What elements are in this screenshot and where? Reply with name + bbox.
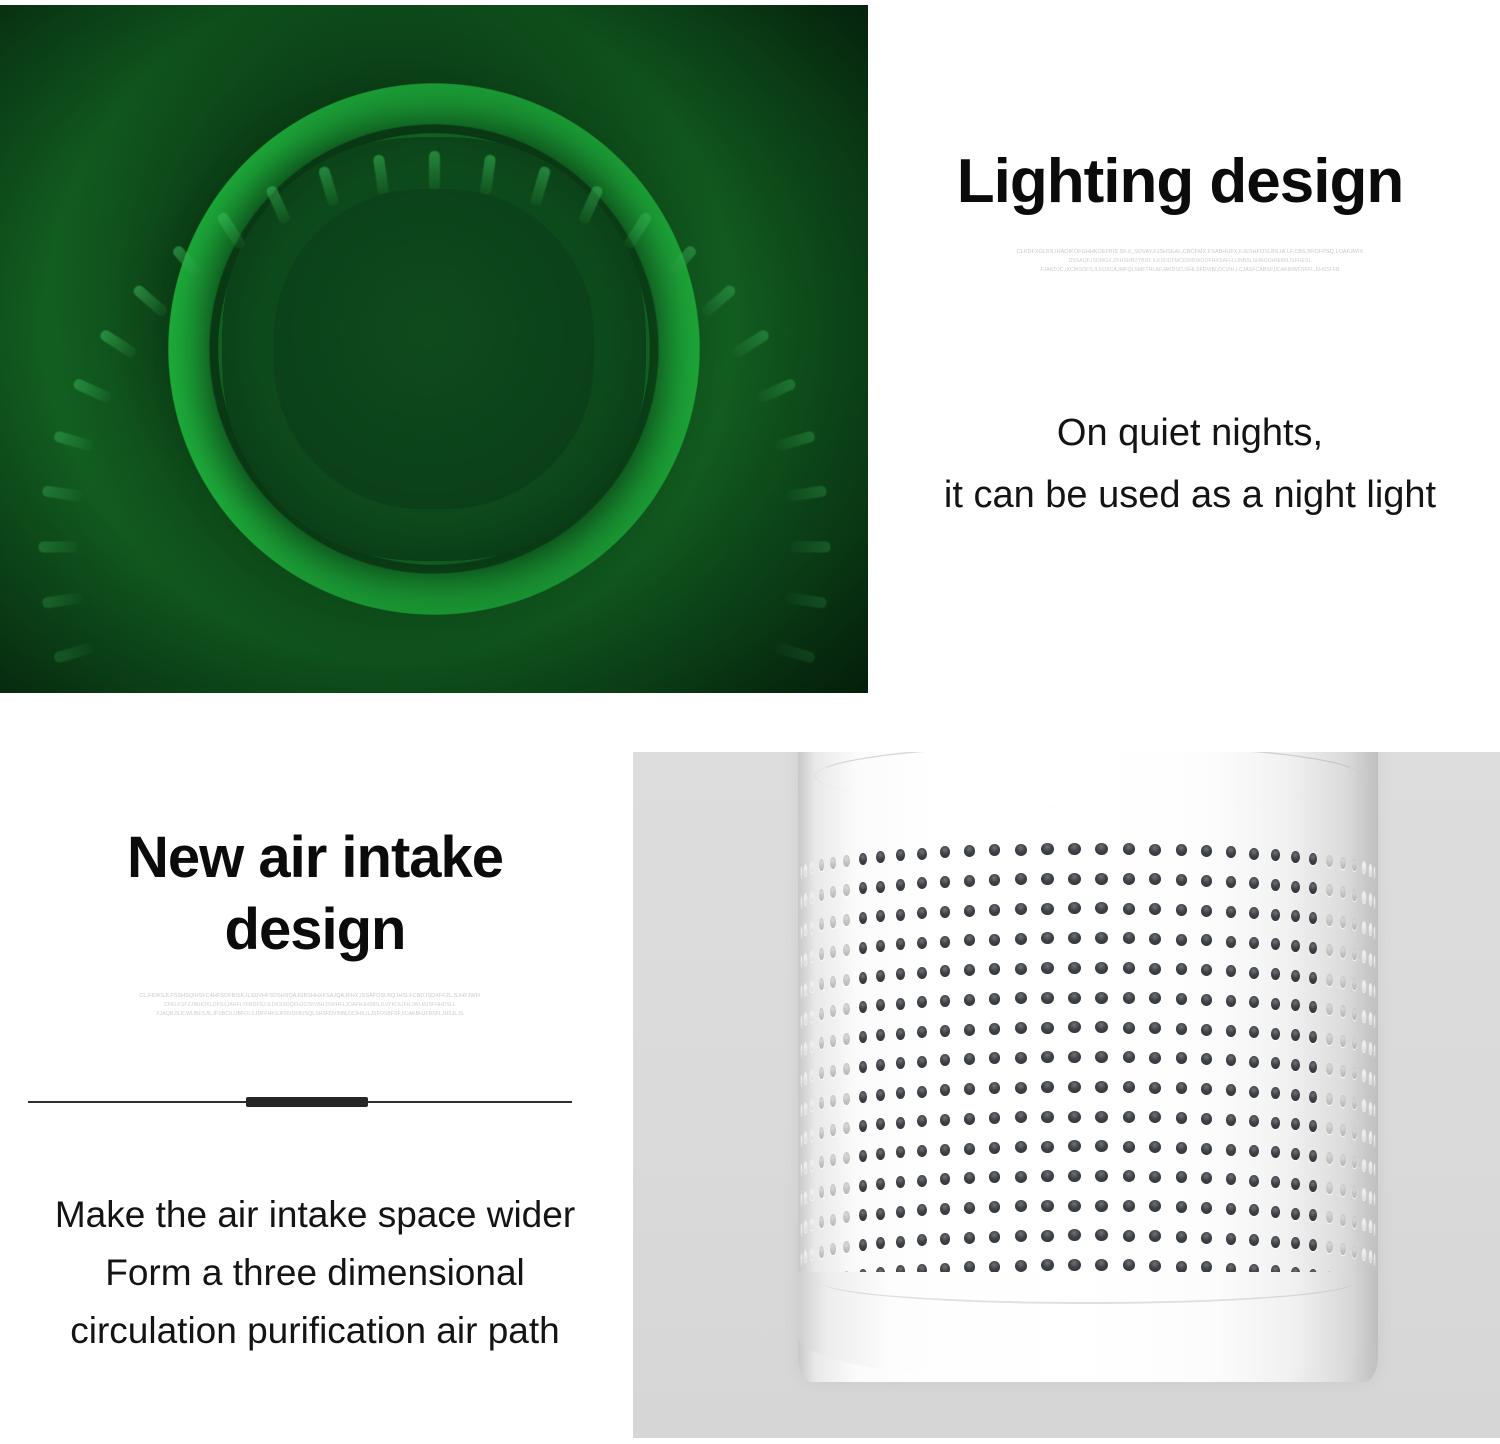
purifier-hole	[940, 1025, 951, 1037]
hub-slot	[756, 690, 797, 693]
purifier-hole	[940, 1173, 951, 1185]
purifier-hole	[810, 980, 814, 992]
purifier-hole	[1015, 1082, 1027, 1094]
purifier-hole	[1041, 1200, 1053, 1212]
purifier-hole	[1369, 1042, 1372, 1054]
purifier-hole	[1068, 1051, 1081, 1063]
purifier-hole	[1369, 1191, 1372, 1203]
purifier-hole	[1095, 1021, 1108, 1033]
purifier-hole	[1362, 1218, 1366, 1230]
purifier-hole	[859, 1091, 867, 1103]
purifier-hole	[1352, 889, 1357, 901]
purifier-hole	[1291, 999, 1300, 1011]
purifier-hole	[896, 909, 906, 921]
purifier-hole	[804, 1012, 807, 1024]
purifier-hole	[989, 1142, 1001, 1154]
purifier-hole	[1309, 1239, 1317, 1251]
purifier-hole	[843, 1063, 850, 1075]
purifier-hole	[876, 999, 885, 1011]
purifier-hole	[1015, 1171, 1027, 1183]
purifier-hole	[1374, 1074, 1375, 1086]
purifier-hole	[1176, 1052, 1188, 1064]
purifier-hole	[964, 934, 975, 946]
micro-text-line: CFKLKSFZJIBHOKLDFSSJAHFLYFBDFSJ,ILDKSSDQ…	[60, 1001, 560, 1010]
purifier-hole	[1176, 1201, 1188, 1213]
purifier-hole	[1369, 953, 1372, 965]
purifier-hole	[1340, 916, 1346, 928]
purifier-hole	[1326, 944, 1333, 956]
purifier-hole	[1362, 1129, 1366, 1141]
purifier-hole	[1249, 907, 1259, 919]
purifier-hole	[896, 1206, 906, 1218]
purifier-hole	[1352, 1216, 1357, 1228]
purifier-hole	[1291, 1178, 1300, 1190]
purifier-hole	[801, 1134, 802, 1146]
purifier-hole	[859, 1150, 867, 1162]
purifier-hole	[876, 1118, 885, 1130]
purifier-hole	[859, 912, 867, 924]
purifier-hole	[1271, 1146, 1281, 1158]
purifier-hole	[804, 1131, 807, 1143]
purifier-hole	[896, 1236, 906, 1248]
purifier-hole	[819, 918, 824, 930]
purifier-hole	[1015, 873, 1027, 885]
purifier-hole	[830, 1065, 836, 1077]
purifier-hole	[819, 1008, 824, 1020]
purifier-hole	[1326, 1182, 1333, 1194]
purifier-hole	[1068, 1170, 1081, 1182]
purifier-hole	[801, 1223, 802, 1235]
hub-slot	[41, 485, 82, 502]
purifier-hole	[896, 1028, 906, 1040]
purifier-hole	[1015, 1052, 1027, 1064]
purifier-hole	[1271, 1176, 1281, 1188]
fan-photo	[0, 5, 868, 693]
purifier-hole	[830, 857, 836, 869]
purifier-hole	[804, 1161, 807, 1173]
purifier-hole	[1374, 1193, 1375, 1205]
purifier-hole	[843, 855, 850, 867]
purifier-hole	[859, 972, 867, 984]
purifier-hole	[1362, 1010, 1366, 1022]
micro-text-line: FJAKDJC,IXCIKSDFS,ILFOSCA,IMFQLSMFTHLAFJ…	[945, 266, 1435, 275]
purifier-hole	[940, 936, 951, 948]
purifier-hole	[1362, 950, 1366, 962]
purifier-hole	[1041, 962, 1053, 974]
purifier-hole	[1374, 1163, 1375, 1175]
purifier-hole	[1041, 1051, 1053, 1063]
divider-thick-bar	[246, 1097, 368, 1107]
lighting-design-block: Lighting design CLKDFXGLBS,IHAOIKOFGHHKO…	[880, 0, 1500, 700]
purifier-hole	[819, 1246, 824, 1258]
purifier-hole	[1226, 1233, 1237, 1245]
purifier-hole	[804, 923, 807, 935]
hub-slot	[72, 377, 113, 404]
purifier-hole	[1249, 1115, 1259, 1127]
micro-text-line: CL,FIDKSJLFSSHSQIHSFC4HFSOFBISK,ILSDVHFS…	[60, 992, 560, 1001]
caption-line: circulation purification air path	[0, 1302, 630, 1360]
purifier-hole	[964, 1053, 975, 1065]
purifier-hole	[1095, 1140, 1108, 1152]
purifier-hole	[964, 1143, 975, 1155]
purifier-hole	[1249, 848, 1259, 860]
caption-line: On quiet nights,	[880, 402, 1500, 464]
purifier-hole	[1176, 1231, 1188, 1243]
purifier-hole	[804, 953, 807, 965]
purifier-hole	[1291, 1029, 1300, 1041]
purifier-hole	[1015, 1141, 1027, 1153]
heading-line: design	[25, 894, 605, 966]
purifier-hole	[1149, 844, 1161, 856]
purifier-hole	[964, 1024, 975, 1036]
purifier-hole	[1249, 1145, 1259, 1157]
purifier-hole	[1176, 1171, 1188, 1183]
purifier-hole	[1123, 1200, 1135, 1212]
purifier-hole	[1271, 1206, 1281, 1218]
purifier-hole	[1291, 1089, 1300, 1101]
purifier-hole	[1201, 845, 1212, 857]
purifier-hole	[1068, 1021, 1081, 1033]
purifier-hole	[1068, 1200, 1081, 1212]
purifier-hole	[1340, 946, 1346, 958]
purifier-hole	[1271, 1057, 1281, 1069]
purifier-hole	[1201, 1024, 1212, 1036]
purifier-hole	[1374, 866, 1375, 878]
purifier-hole	[830, 1154, 836, 1166]
purifier-hole	[819, 1037, 824, 1049]
purifier-hole	[964, 994, 975, 1006]
purifier-hole	[1095, 1081, 1108, 1093]
purifier-hole	[1123, 1170, 1135, 1182]
purifier-hole	[1374, 1253, 1375, 1265]
purifier-hole	[843, 1152, 850, 1164]
purifier-hole	[810, 891, 814, 903]
purifier-hole	[876, 881, 885, 893]
purifier-hole	[830, 1035, 836, 1047]
purifier-hole	[1362, 1159, 1366, 1171]
purifier-hole	[1041, 873, 1053, 885]
purifier-hole	[843, 974, 850, 986]
purifier-hole	[1123, 992, 1135, 1004]
purifier-hole	[1176, 1023, 1188, 1035]
purifier-hole	[917, 877, 927, 889]
purifier-hole	[917, 967, 927, 979]
purifier-hole	[843, 1241, 850, 1253]
purifier-hole	[964, 845, 975, 857]
purifier-hole	[1095, 992, 1108, 1004]
purifier-cylinder	[798, 752, 1378, 1382]
purifier-hole	[1309, 882, 1317, 894]
purifier-hole	[830, 1124, 836, 1136]
purifier-hole	[1340, 1065, 1346, 1077]
purifier-hole	[1226, 1054, 1237, 1066]
purifier-hole	[1326, 974, 1333, 986]
purifier-hole	[1291, 851, 1300, 863]
purifier-hole	[804, 1191, 807, 1203]
purifier-hole	[1362, 1248, 1366, 1260]
purifier-hole	[940, 1114, 951, 1126]
purifier-hole	[801, 1044, 802, 1056]
purifier-hole	[1374, 985, 1375, 997]
purifier-hole	[1340, 1124, 1346, 1136]
purifier-hole	[1340, 1095, 1346, 1107]
purifier-hole	[1249, 1056, 1259, 1068]
purifier-hole	[1340, 1243, 1346, 1255]
purifier-hole	[1352, 948, 1357, 960]
purifier-hole	[1149, 873, 1161, 885]
purifier-hole	[801, 955, 802, 967]
purifier-top-rim-seam	[815, 752, 1360, 808]
air-intake-caption: Make the air intake space wider Form a t…	[0, 1186, 630, 1360]
purifier-hole	[801, 1015, 802, 1027]
purifier-hole	[1226, 1203, 1237, 1215]
purifier-hole	[1374, 1223, 1375, 1235]
purifier-hole	[1149, 1022, 1161, 1034]
purifier-hole	[1249, 1086, 1259, 1098]
purifier-hole	[1149, 933, 1161, 945]
hub-slot	[790, 542, 830, 553]
purifier-hole	[810, 1010, 814, 1022]
purifier-hole	[830, 1005, 836, 1017]
purifier-hole	[1226, 1114, 1237, 1126]
purifier-hole	[1340, 1005, 1346, 1017]
lighting-caption: On quiet nights, it can be used as a nig…	[880, 402, 1500, 526]
purifier-hole	[917, 1234, 927, 1246]
purifier-hole	[1226, 1144, 1237, 1156]
purifier-hole	[1123, 1022, 1135, 1034]
purifier-hole	[940, 965, 951, 977]
purifier-hole	[1095, 1200, 1108, 1212]
purifier-hole	[896, 938, 906, 950]
purifier-hole	[876, 1089, 885, 1101]
purifier-hole	[1176, 934, 1188, 946]
purifier-hole	[917, 1204, 927, 1216]
heading-line: New air intake	[25, 822, 605, 894]
purifier-hole	[1352, 918, 1357, 930]
purifier-hole	[1176, 1082, 1188, 1094]
purifier-hole	[917, 1086, 927, 1098]
purifier-hole	[1249, 937, 1259, 949]
purifier-hole	[917, 1115, 927, 1127]
purifier-hole	[1149, 1111, 1161, 1123]
purifier-hole	[876, 1059, 885, 1071]
purifier-hole	[989, 1052, 1001, 1064]
purifier-hole	[940, 846, 951, 858]
purifier-hole	[1326, 1093, 1333, 1105]
purifier-hole	[1291, 910, 1300, 922]
purifier-hole	[940, 1203, 951, 1215]
hub-slot	[731, 328, 771, 359]
purifier-hole	[896, 1117, 906, 1129]
purifier-hole	[1015, 844, 1027, 856]
hub-slot	[699, 284, 736, 319]
purifier-hole	[810, 1129, 814, 1141]
purifier-hole	[810, 1188, 814, 1200]
purifier-hole	[859, 1120, 867, 1132]
purifier-hole	[989, 934, 1001, 946]
purifier-hole	[1068, 1140, 1081, 1152]
purifier-hole	[1326, 884, 1333, 896]
purifier-hole	[964, 1113, 975, 1125]
purifier-hole	[859, 1239, 867, 1251]
hub-slot	[72, 690, 113, 693]
purifier-hole	[1291, 1118, 1300, 1130]
purifier-hole	[1362, 1040, 1366, 1052]
purifier-hole	[819, 859, 824, 871]
purifier-hole	[1226, 1173, 1237, 1185]
purifier-hole	[810, 1159, 814, 1171]
purifier-hole	[1271, 1117, 1281, 1129]
purifier-hole	[1352, 1008, 1357, 1020]
purifier-hole	[964, 905, 975, 917]
purifier-hole	[819, 1097, 824, 1109]
purifier-base-skirt	[798, 1272, 1378, 1382]
divider-bottom	[28, 1095, 572, 1109]
purifier-hole	[1352, 1156, 1357, 1168]
purifier-hole	[1291, 940, 1300, 952]
purifier-hole	[804, 1072, 807, 1084]
purifier-hole	[1291, 970, 1300, 982]
purifier-hole	[917, 1056, 927, 1068]
purifier-hole	[810, 1218, 814, 1230]
purifier-hole	[1095, 1170, 1108, 1182]
purifier-hole	[801, 866, 802, 878]
purifier-hole	[1226, 846, 1237, 858]
purifier-hole	[804, 1042, 807, 1054]
caption-line: it can be used as a night light	[880, 464, 1500, 526]
purifier-hole	[1123, 1051, 1135, 1063]
purifier-hole	[917, 907, 927, 919]
purifier-hole	[964, 964, 975, 976]
product-feature-page: Lighting design CLKDFXGLBS,IHAOIKOFGHHKO…	[0, 0, 1500, 1444]
purifier-hole	[989, 1023, 1001, 1035]
purifier-hole	[1362, 921, 1366, 933]
purifier-hole	[1095, 962, 1108, 974]
purifier-hole	[1362, 980, 1366, 992]
purifier-hole	[1095, 873, 1108, 885]
purifier-hole	[859, 1209, 867, 1221]
purifier-hole	[804, 1102, 807, 1114]
purifier-hole	[1095, 902, 1108, 914]
purifier-hole	[1201, 1202, 1212, 1214]
purifier-hole	[1249, 1234, 1259, 1246]
purifier-hole	[1291, 1237, 1300, 1249]
purifier-hole	[859, 853, 867, 865]
purifier-hole	[1201, 1083, 1212, 1095]
purifier-hole	[843, 1211, 850, 1223]
purifier-hole	[989, 1112, 1001, 1124]
purifier-hole	[1068, 932, 1081, 944]
purifier-hole	[1326, 914, 1333, 926]
purifier-hole	[1068, 962, 1081, 974]
purifier-hole	[1149, 1200, 1161, 1212]
purifier-hole	[1352, 1067, 1357, 1079]
purifier-hole	[843, 1003, 850, 1015]
purifier-hole	[801, 926, 802, 938]
purifier-hole	[1374, 1134, 1375, 1146]
purifier-hole	[843, 944, 850, 956]
purifier-hole	[804, 1250, 807, 1262]
purifier-hole	[1352, 859, 1357, 871]
purifier-hole	[1041, 932, 1053, 944]
purifier-hole	[859, 1001, 867, 1013]
air-intake-micro-text: CL,FIDKSJLFSSHSQIHSFC4HFSOFBISK,ILSDVHFS…	[60, 992, 560, 1019]
purifier-hole	[1309, 1180, 1317, 1192]
purifier-hole	[1249, 967, 1259, 979]
purifier-hole	[896, 1087, 906, 1099]
purifier-hole	[819, 889, 824, 901]
purifier-hole	[801, 1253, 802, 1265]
purifier-hole	[940, 1233, 951, 1245]
purifier-hole	[940, 1084, 951, 1096]
purifier-hole	[1041, 1081, 1053, 1093]
purifier-hole	[1249, 1204, 1259, 1216]
purifier-hole	[917, 1175, 927, 1187]
purifier-hole	[1123, 1081, 1135, 1093]
hub-slot	[786, 592, 827, 609]
purifier-hole	[1015, 933, 1027, 945]
purifier-hole	[804, 893, 807, 905]
purifier-hole	[810, 1069, 814, 1081]
purifier-hole	[1201, 905, 1212, 917]
purifier-hole	[1374, 1015, 1375, 1027]
purifier-hole	[810, 861, 814, 873]
purifier-hole	[1095, 1111, 1108, 1123]
purifier-hole	[1369, 1161, 1372, 1173]
purifier-hole	[859, 1061, 867, 1073]
purifier-hole	[801, 1074, 802, 1086]
purifier-hole	[1201, 1113, 1212, 1125]
purifier-hole	[896, 968, 906, 980]
purifier-hole	[859, 942, 867, 954]
purifier-hole	[1271, 938, 1281, 950]
purifier-hole	[1340, 857, 1346, 869]
purifier-hole	[896, 1176, 906, 1188]
purifier-hole	[843, 1122, 850, 1134]
purifier-hole	[810, 1040, 814, 1052]
purifier-hole	[830, 1243, 836, 1255]
purifier-hole	[1362, 1188, 1366, 1200]
purifier-hole	[1068, 843, 1081, 855]
purifier-hole	[1352, 1186, 1357, 1198]
purifier-hole	[1201, 994, 1212, 1006]
purifier-hole	[1271, 879, 1281, 891]
purifier-hole	[1309, 912, 1317, 924]
purifier-hole	[1291, 1208, 1300, 1220]
purifier-hole	[1176, 904, 1188, 916]
purifier-hole	[1362, 1069, 1366, 1081]
purifier-hole	[917, 1026, 927, 1038]
purifier-hole	[1123, 903, 1135, 915]
purifier-hole	[917, 937, 927, 949]
purifier-hole	[1352, 1246, 1357, 1258]
purifier-hole	[940, 1054, 951, 1066]
caption-line: Make the air intake space wider	[0, 1186, 630, 1244]
fan-impeller-graphic	[0, 5, 868, 693]
purifier-hole	[989, 874, 1001, 886]
purifier-hole	[940, 1144, 951, 1156]
purifier-hole	[1309, 942, 1317, 954]
purifier-hole	[801, 1193, 802, 1205]
purifier-hole	[1095, 843, 1108, 855]
purifier-hole	[1015, 963, 1027, 975]
purifier-hole	[801, 985, 802, 997]
purifier-hole	[1123, 1230, 1135, 1242]
purifier-hole	[810, 1248, 814, 1260]
purifier-hole	[1068, 992, 1081, 1004]
purifier-hole	[1249, 877, 1259, 889]
purifier-hole	[1249, 1175, 1259, 1187]
